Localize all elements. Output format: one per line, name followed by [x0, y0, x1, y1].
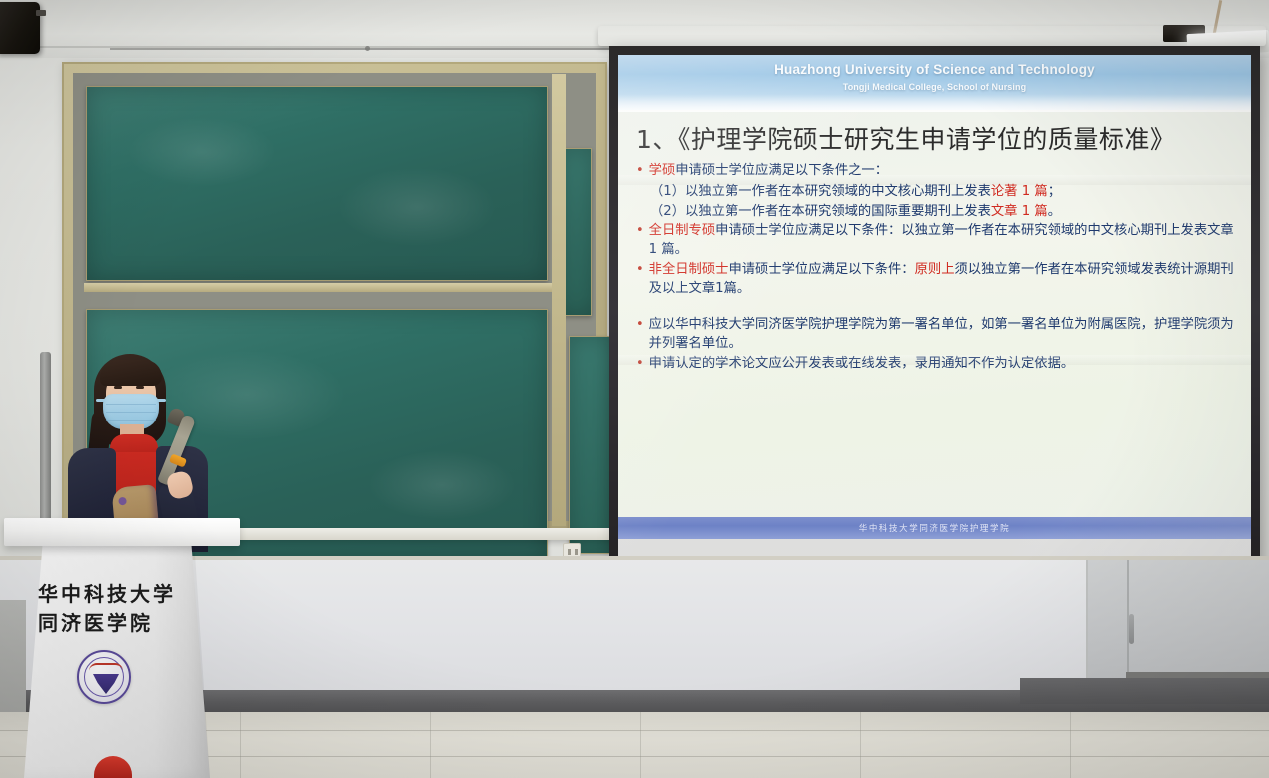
slide-bullet-row: •学硕申请硕士学位应满足以下条件之一： [636, 162, 1237, 181]
slide-bullet-text: 学硕申请硕士学位应满足以下条件之一： [649, 162, 888, 181]
slide-sub-line: （2）以独立第一作者在本研究领域的国际重要期刊上发表文章 1 篇。 [650, 202, 1237, 221]
slide-college-name-en: Tongji Medical College, School of Nursin… [618, 82, 1251, 92]
slide-bullet-row: •申请认定的学术论文应公开发表或在线发表，录用通知不作为认定依据。 [636, 355, 1237, 374]
projection-screen[interactable]: Huazhong University of Science and Techn… [609, 46, 1260, 574]
podium-line-1: 华中科技大学 [38, 580, 198, 609]
slide-bullet-text: 申请认定的学术论文应公开发表或在线发表，录用通知不作为认定依据。 [649, 355, 1075, 374]
microphone-stand-pole [40, 352, 51, 522]
slide-bullet-row: •应以华中科技大学同济医学院护理学院为第一署名单位，如第一署名单位为附属医院，护… [636, 316, 1237, 354]
bullet-dot-icon: • [636, 355, 644, 373]
slide-footer-text: 华中科技大学同济医学院护理学院 [859, 522, 1011, 534]
bullet-dot-icon: • [636, 316, 644, 334]
podium-inscription: 华中科技大学 同济医学院 [38, 580, 198, 638]
podium: 华中科技大学 同济医学院 [4, 518, 240, 778]
podium-lectern-top [4, 518, 240, 546]
bullet-dot-icon: • [636, 222, 644, 240]
presenter-eye-left [114, 386, 122, 389]
slide-bullet-text: 非全日制硕士申请硕士学位应满足以下条件：原则上须以独立第一作者在本研究领域发表统… [649, 261, 1237, 299]
slide-bullet-text: 应以华中科技大学同济医学院护理学院为第一署名单位，如第一署名单位为附属医院，护理… [649, 316, 1237, 354]
slide-university-name-en: Huazhong University of Science and Techn… [618, 62, 1251, 77]
slide-body: 1、《护理学院硕士研究生申请学位的质量标准》 •学硕申请硕士学位应满足以下条件之… [618, 110, 1251, 374]
presenter-eye-right [136, 386, 144, 389]
slide-bullet-text: 全日制专硕申请硕士学位应满足以下条件：以独立第一作者在本研究领域的中文核心期刊上… [649, 222, 1237, 260]
slide-bullet-spacer [632, 300, 1237, 315]
baseboard-right [1020, 678, 1269, 704]
bullet-dot-icon: • [636, 261, 644, 279]
slide-bullet-list: •学硕申请硕士学位应满足以下条件之一：（1）以独立第一作者在本研究领域的中文核心… [632, 162, 1237, 374]
projection-screen-housing [598, 26, 1266, 46]
slide-footer-band: 华中科技大学同济医学院护理学院 [618, 517, 1251, 539]
blackboard-rail-vertical [552, 74, 566, 526]
blackboard-panel-side-upper [562, 148, 592, 316]
slide-bullet-row: •全日制专硕申请硕士学位应满足以下条件：以独立第一作者在本研究领域的中文核心期刊… [636, 222, 1237, 260]
slide-header-band: Huazhong University of Science and Techn… [618, 55, 1251, 110]
presenter-fringe [100, 360, 162, 386]
blackboard-rail-middle [84, 283, 552, 292]
slide-title: 1、《护理学院硕士研究生申请学位的质量标准》 [636, 120, 1237, 156]
ceiling-speaker-left [0, 2, 40, 54]
blackboard-panel-upper [86, 86, 548, 281]
presentation-slide: Huazhong University of Science and Techn… [618, 55, 1251, 539]
podium-line-2: 同济医学院 [38, 609, 198, 638]
wire-clip [365, 46, 370, 51]
projection-screen-surface: Huazhong University of Science and Techn… [618, 55, 1251, 565]
lecture-hall-scene: Huazhong University of Science and Techn… [0, 0, 1269, 778]
university-emblem-icon [77, 650, 131, 704]
slide-bullet-row: •非全日制硕士申请硕士学位应满足以下条件：原则上须以独立第一作者在本研究领域发表… [636, 261, 1237, 299]
bullet-dot-icon: • [636, 162, 644, 180]
blackboard-panel-side-lower [569, 336, 611, 554]
cabinet-handle[interactable] [1129, 614, 1134, 644]
slide-sub-line: （1）以独立第一作者在本研究领域的中文核心期刊上发表论著 1 篇； [650, 182, 1237, 201]
